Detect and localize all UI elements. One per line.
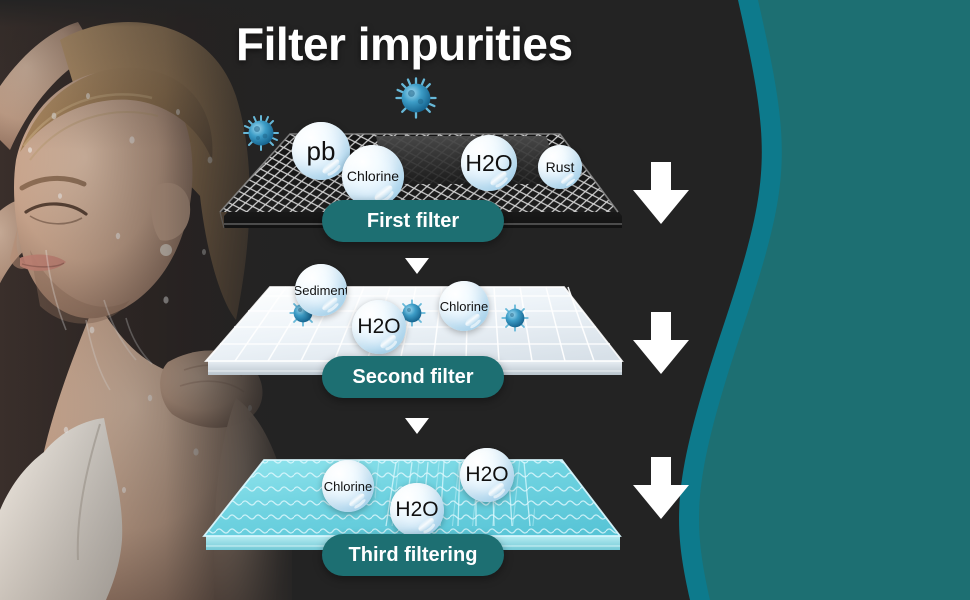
bubble-label: H2O: [465, 463, 508, 487]
flow-arrow-down-icon: [633, 312, 689, 379]
bubble-label: pb: [307, 136, 336, 167]
impurity-bubble: Rust: [538, 145, 582, 189]
second-filter-pill[interactable]: Second filter: [322, 356, 504, 398]
impurity-bubble: H2O: [461, 135, 517, 191]
impurity-bubble: Chlorine: [322, 460, 374, 512]
third-filter-pill[interactable]: Third filtering: [322, 534, 504, 576]
triangle-down-icon: [405, 258, 429, 279]
third-filter-label: Third filtering: [349, 544, 478, 567]
first-filter-label: First filter: [367, 210, 459, 233]
germ-icon: [500, 303, 530, 338]
impurity-bubble: H2O: [390, 483, 444, 537]
impurity-bubble: Chlorine: [342, 145, 404, 207]
first-filter-pill[interactable]: First filter: [322, 200, 504, 242]
bubble-label: Rust: [546, 159, 575, 175]
impurity-bubble: H2O: [460, 448, 514, 502]
germ-icon: [241, 113, 281, 158]
flow-arrow-down-icon: [633, 457, 689, 524]
germ-icon: [393, 75, 439, 126]
second-filter-label: Second filter: [352, 366, 473, 389]
triangle-down-icon: [405, 418, 429, 439]
infographic-canvas: pb Chlorine H2O Rust Sediment H2O Chlori…: [0, 0, 970, 600]
bubble-label: H2O: [465, 150, 512, 177]
bubble-label: H2O: [395, 498, 438, 522]
bubble-label: H2O: [357, 315, 400, 339]
bubble-label: Chlorine: [324, 479, 372, 494]
bubble-label: Chlorine: [347, 168, 399, 184]
impurity-bubble: Sediment: [295, 264, 347, 316]
impurity-bubble: Chlorine: [439, 281, 489, 331]
page-title: Filter impurities: [236, 17, 573, 71]
flow-arrow-down-icon: [633, 162, 689, 229]
impurity-bubble: H2O: [352, 300, 406, 354]
bubble-label: Chlorine: [440, 299, 488, 314]
bubble-label: Sediment: [295, 283, 347, 298]
teal-curve-panel: [650, 0, 970, 600]
